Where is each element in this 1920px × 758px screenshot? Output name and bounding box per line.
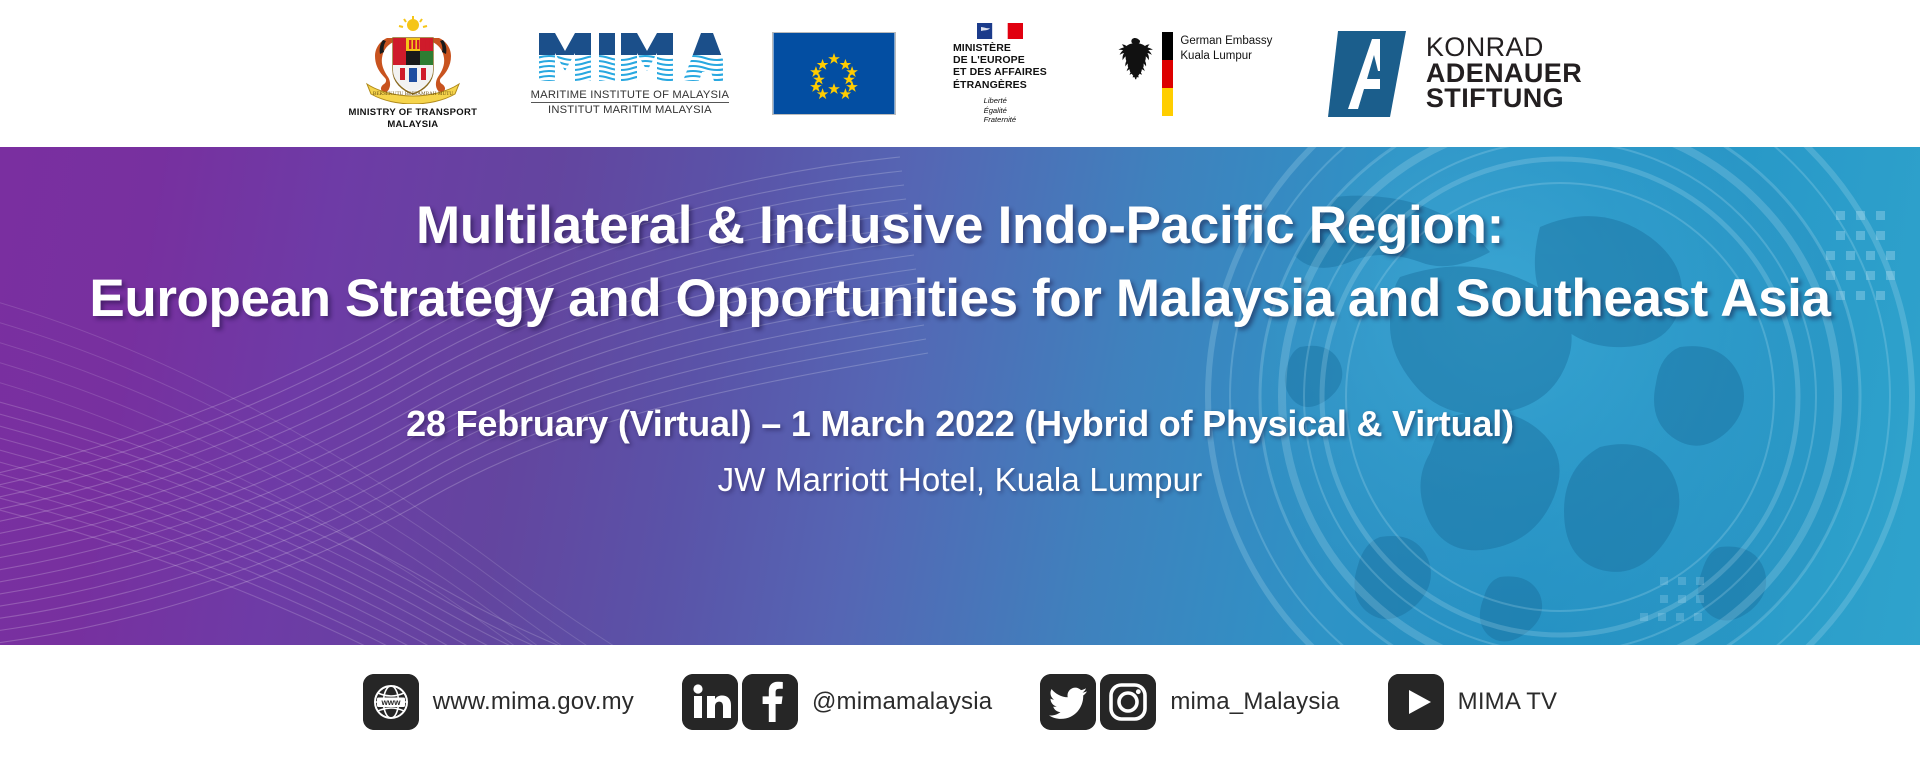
mot-caption-line1: MINISTRY OF TRANSPORT xyxy=(349,107,478,119)
german-embassy-text: German Embassy Kuala Lumpur xyxy=(1180,34,1272,65)
www-globe-icon[interactable]: www xyxy=(363,674,419,730)
fr-title-line2: DE L'EUROPE xyxy=(953,54,1047,66)
fr-title-line1: MINISTÈRE xyxy=(953,42,1047,54)
event-title-line2: European Strategy and Opportunities for … xyxy=(89,268,1830,329)
kas-word-konrad: KONRAD xyxy=(1426,35,1582,61)
instagram-icon[interactable] xyxy=(1100,674,1156,730)
fr-motto-line1: Liberté xyxy=(984,96,1017,105)
event-banner: BERSEKUTU BERTAMBAH MUTU MINISTRY OF TRA… xyxy=(0,0,1920,758)
fr-motto: Liberté Égalité Fraternité xyxy=(984,96,1017,124)
facebook-icon[interactable] xyxy=(742,674,798,730)
footer-label-linkedin-facebook: @mimamalaysia xyxy=(812,688,992,716)
svg-text:www: www xyxy=(380,698,401,707)
footer-icons: www xyxy=(363,674,419,730)
social-footer: www www.mima.gov.my @mimamalaysia xyxy=(0,645,1920,758)
mima-wordmark-icon xyxy=(537,31,723,87)
german-flag-bar-icon xyxy=(1162,32,1173,116)
logo-konrad-adenauer-stiftung: KONRAD ADENAUER STIFTUNG xyxy=(1328,31,1582,117)
event-date-line: 28 February (Virtual) – 1 March 2022 (Hy… xyxy=(406,403,1514,445)
footer-icons xyxy=(682,674,798,730)
fr-title-line4: ÉTRANGÈRES xyxy=(953,79,1047,91)
event-venue-line: JW Marriott Hotel, Kuala Lumpur xyxy=(718,461,1203,499)
german-federal-eagle-icon xyxy=(1115,34,1155,80)
twitter-icon[interactable] xyxy=(1040,674,1096,730)
mot-caption-line2: MALAYSIA xyxy=(349,119,478,131)
logo-mima: MARITIME INSTITUTE OF MALAYSIA INSTITUT … xyxy=(532,31,728,116)
linkedin-icon[interactable] xyxy=(682,674,738,730)
french-republic-flag-icon xyxy=(977,23,1023,39)
footer-icons xyxy=(1040,674,1156,730)
kas-word-stiftung: STIFTUNG xyxy=(1426,86,1582,112)
footer-label-website: www.mima.gov.my xyxy=(433,688,634,716)
kas-mark-icon xyxy=(1328,31,1414,117)
mima-tagline-my: INSTITUT MARITIM MALAYSIA xyxy=(548,103,712,116)
malaysia-coat-of-arms-icon: BERSEKUTU BERTAMBAH MUTU xyxy=(353,16,473,104)
logo-ministry-of-transport-malaysia: BERSEKUTU BERTAMBAH MUTU MINISTRY OF TRA… xyxy=(338,16,488,131)
hero-banner: Multilateral & Inclusive Indo-Pacific Re… xyxy=(0,147,1920,645)
fr-motto-line2: Égalité xyxy=(984,106,1017,115)
sponsor-logo-header: BERSEKUTU BERTAMBAH MUTU MINISTRY OF TRA… xyxy=(0,0,1920,147)
hero-text-block: Multilateral & Inclusive Indo-Pacific Re… xyxy=(0,147,1920,645)
eu-flag-icon xyxy=(772,32,896,115)
event-title-line1: Multilateral & Inclusive Indo-Pacific Re… xyxy=(416,195,1504,256)
de-text-line1: German Embassy xyxy=(1180,34,1272,50)
footer-item-youtube[interactable]: MIMA TV xyxy=(1388,674,1558,730)
footer-item-website[interactable]: www www.mima.gov.my xyxy=(363,674,634,730)
fr-ministry-title: MINISTÈRE DE L'EUROPE ET DES AFFAIRES ÉT… xyxy=(953,42,1047,92)
footer-item-linkedin-facebook[interactable]: @mimamalaysia xyxy=(682,674,992,730)
logo-france-ministry-europe-foreign-affairs: MINISTÈRE DE L'EUROPE ET DES AFFAIRES ÉT… xyxy=(940,23,1060,125)
logo-caption: MINISTRY OF TRANSPORT MALAYSIA xyxy=(349,107,478,131)
footer-icons xyxy=(1388,674,1444,730)
fr-title-line3: ET DES AFFAIRES xyxy=(953,66,1047,78)
logo-european-union xyxy=(772,32,896,115)
fr-motto-line3: Fraternité xyxy=(984,115,1017,124)
logo-german-embassy-kuala-lumpur: German Embassy Kuala Lumpur xyxy=(1104,32,1284,116)
footer-label-youtube: MIMA TV xyxy=(1458,688,1558,716)
de-text-line2: Kuala Lumpur xyxy=(1180,49,1272,65)
svg-text:BERSEKUTU BERTAMBAH MUTU: BERSEKUTU BERTAMBAH MUTU xyxy=(373,91,454,97)
footer-item-twitter-instagram[interactable]: mima_Malaysia xyxy=(1040,674,1339,730)
youtube-play-icon[interactable] xyxy=(1388,674,1444,730)
kas-wordmark: KONRAD ADENAUER STIFTUNG xyxy=(1426,35,1582,113)
mima-tagline-en: MARITIME INSTITUTE OF MALAYSIA xyxy=(531,89,729,103)
footer-label-twitter-instagram: mima_Malaysia xyxy=(1170,688,1339,716)
